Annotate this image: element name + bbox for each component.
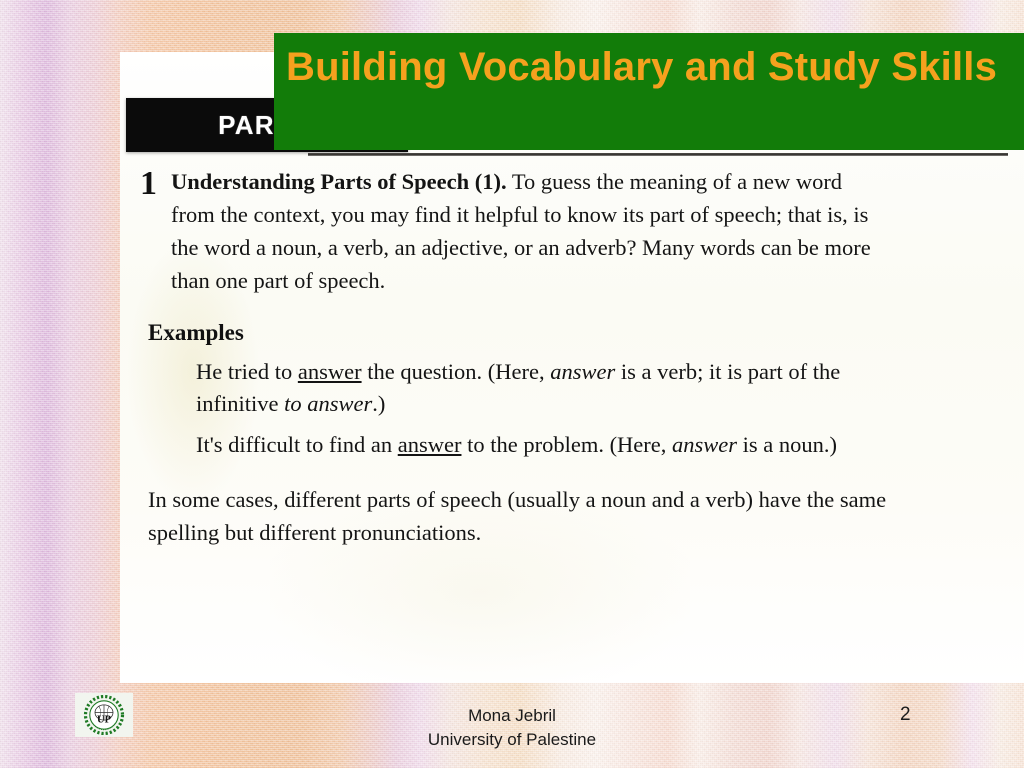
title-banner: Building Vocabulary and Study Skills [274,33,1024,150]
closing-paragraph: In some cases, different parts of speech… [140,483,890,549]
example-2-italic-word: answer [672,432,737,457]
example-2-after: is a noun.) [737,432,837,457]
example-2-underlined-word: answer [398,432,462,457]
example-1-before: He tried to [196,359,298,384]
slide-root: PART 3 Building Vocabulary and Study Ski… [0,0,1024,768]
header-divider-rule [308,153,1008,156]
example-1-underlined-word: answer [298,359,362,384]
example-1-tail: .) [372,391,385,416]
footer-author: Mona Jebril [0,704,1024,728]
example-line-1: He tried to answer the question. (Here, … [140,356,890,420]
example-1-italic-word: answer [550,359,615,384]
slide-title: Building Vocabulary and Study Skills [286,42,1024,92]
page-number: 2 [900,704,960,726]
item-heading: Understanding Parts of Speech (1). [171,169,507,194]
example-line-2: It's difficult to find an answer to the … [140,429,890,461]
numbered-item-1: 1 Understanding Parts of Speech (1). To … [140,165,890,297]
item-number: 1 [140,165,157,201]
example-1-middle: the question. (Here, [362,359,551,384]
lesson-content: 1 Understanding Parts of Speech (1). To … [140,165,890,549]
footer-credit: Mona Jebril University of Palestine [0,704,1024,752]
item-paragraph: Understanding Parts of Speech (1). To gu… [171,165,890,297]
footer-institution: University of Palestine [0,728,1024,752]
example-1-italic-phrase: to answer [284,391,372,416]
example-2-middle: to the problem. (Here, [461,432,672,457]
example-2-before: It's difficult to find an [196,432,398,457]
examples-heading: Examples [140,319,890,347]
